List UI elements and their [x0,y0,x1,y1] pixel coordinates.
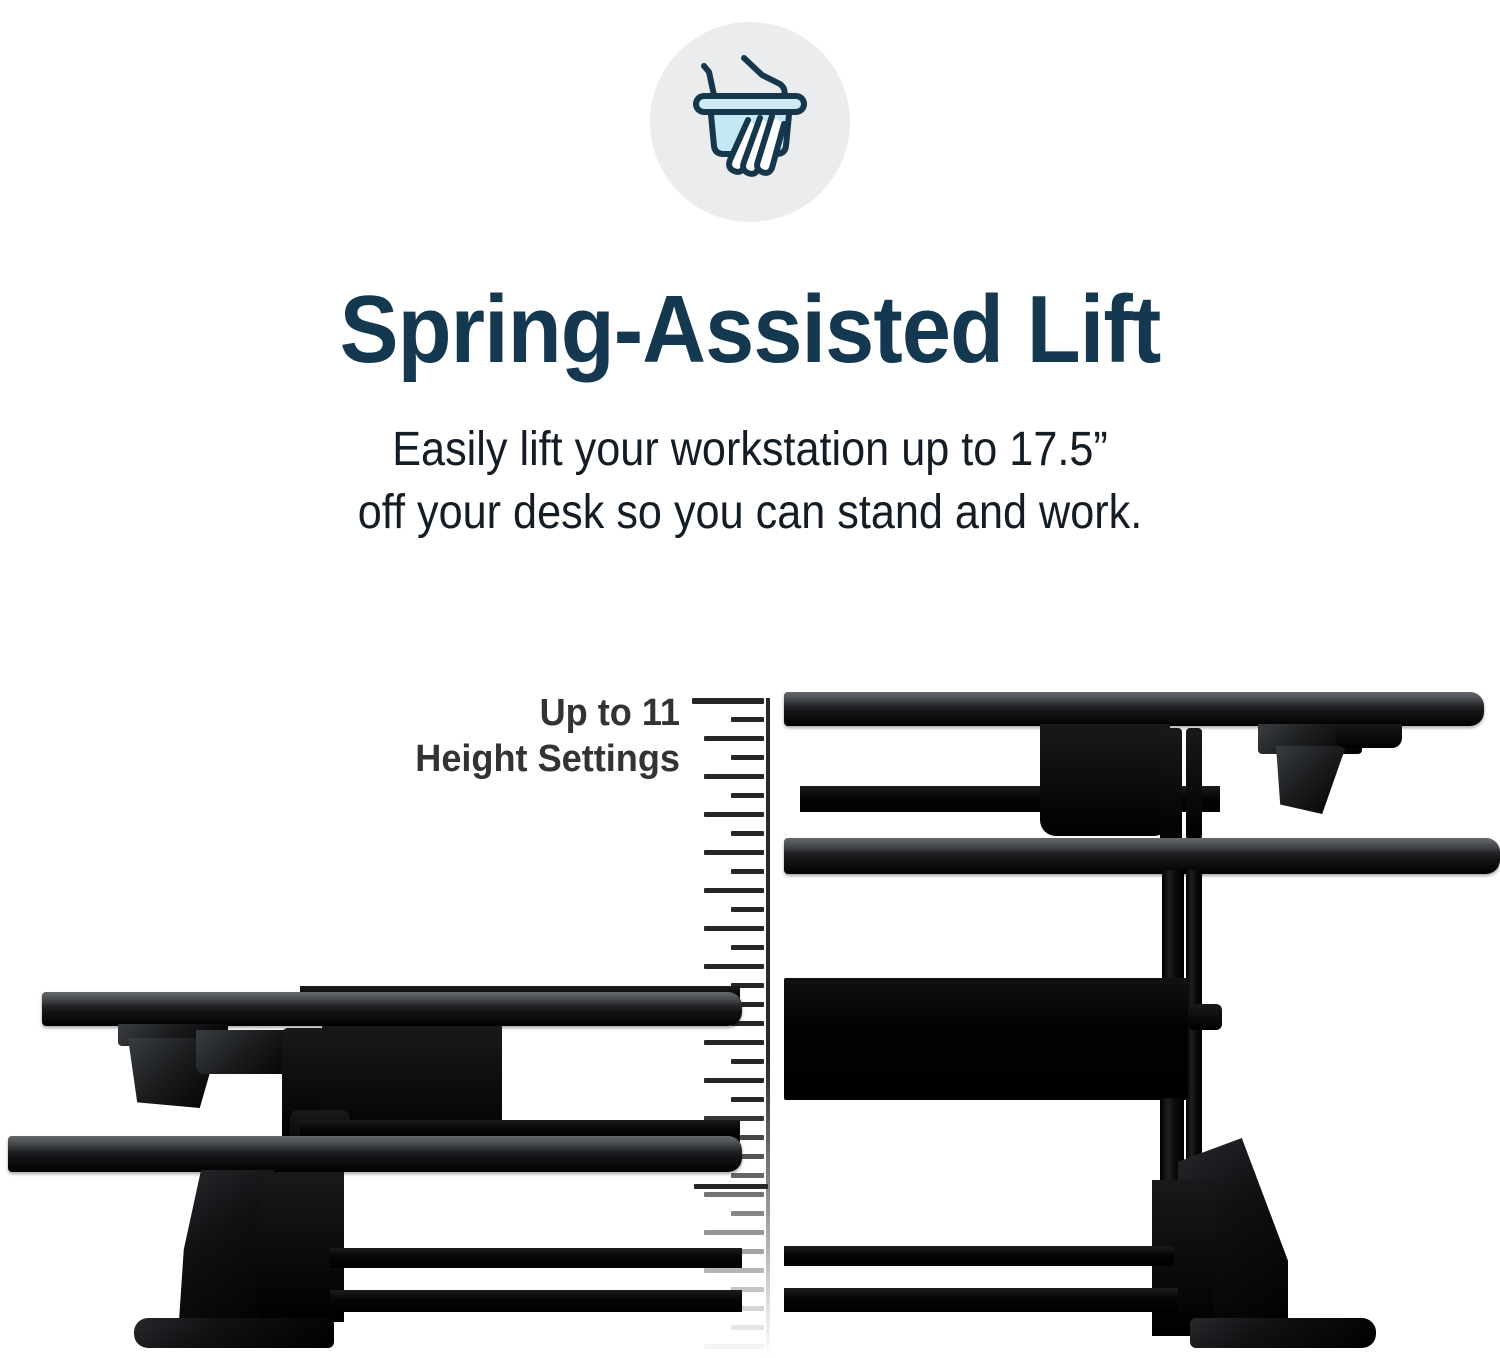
raised-foot-pad [1190,1318,1376,1348]
height-comparison-diagram: Up to 11 Height Settings [0,640,1500,1358]
ruler-tick [704,1230,764,1235]
page-title: Spring-Assisted Lift [60,282,1440,378]
ruler-tick [704,888,764,893]
ruler-tick [731,869,764,874]
raised-top-surface [784,692,1484,726]
height-settings-caption: Up to 11 Height Settings [319,690,680,783]
raised-mechanism-housing [1040,724,1170,836]
raised-back-panel [784,978,1188,1100]
ruler-tick [731,1097,764,1102]
lowered-top-surface [42,992,742,1026]
page-subtitle: Easily lift your workstation up to 17.5”… [75,418,1425,545]
hand-lifting-desk-glyph [670,42,830,202]
ruler-tick [731,717,764,722]
ruler-spine [766,698,770,1358]
ruler-tick [704,926,764,931]
ruler-tick [731,831,764,836]
ruler-tick [704,1268,764,1273]
ruler-tick [731,1211,764,1216]
ruler-tick [704,964,764,969]
subtitle-line-2: off your desk so you can stand and work. [75,481,1425,544]
ruler-tick [731,907,764,912]
lowered-floor-rail-lower [330,1290,742,1312]
lowered-keyboard-tray [8,1136,742,1172]
ruler-tick [731,1059,764,1064]
raised-lever-bracket [1336,724,1402,748]
lowered-foot-pad [134,1318,334,1348]
raised-scissor-arm-a [1160,728,1182,846]
ruler-tick [704,774,764,779]
ruler-tick [704,1344,764,1349]
raised-floor-rail-upper [784,1246,1174,1266]
ruler-tick [704,1078,764,1083]
caption-line-1: Up to 11 [319,690,680,736]
ruler-tick [704,850,764,855]
raised-column-knob [1188,1004,1222,1030]
ruler-tick [692,698,764,704]
ruler-reference-tick [694,1184,768,1189]
ruler-tick [704,812,764,817]
ruler-tick [704,1192,764,1197]
ruler-tick [731,793,764,798]
ruler-tick [731,1325,764,1330]
ruler-tick [731,755,764,760]
ruler-tick [731,1173,764,1178]
ruler-tick [704,1040,764,1045]
raised-floor-rail-lower [784,1288,1178,1312]
lowered-floor-rail-upper [330,1248,742,1268]
ruler-tick [704,736,764,741]
raised-keyboard-tray [784,838,1500,874]
raised-lift-lever [1276,746,1346,814]
product-feature-infographic: Spring-Assisted Lift Easily lift your wo… [0,0,1500,1358]
raised-lift-column-right [1186,870,1202,1110]
subtitle-line-1: Easily lift your workstation up to 17.5” [75,418,1425,481]
hand-lifting-desk-icon [650,22,850,222]
raised-scissor-arm-b [1186,728,1202,840]
caption-line-2: Height Settings [319,736,680,782]
ruler-tick [731,945,764,950]
